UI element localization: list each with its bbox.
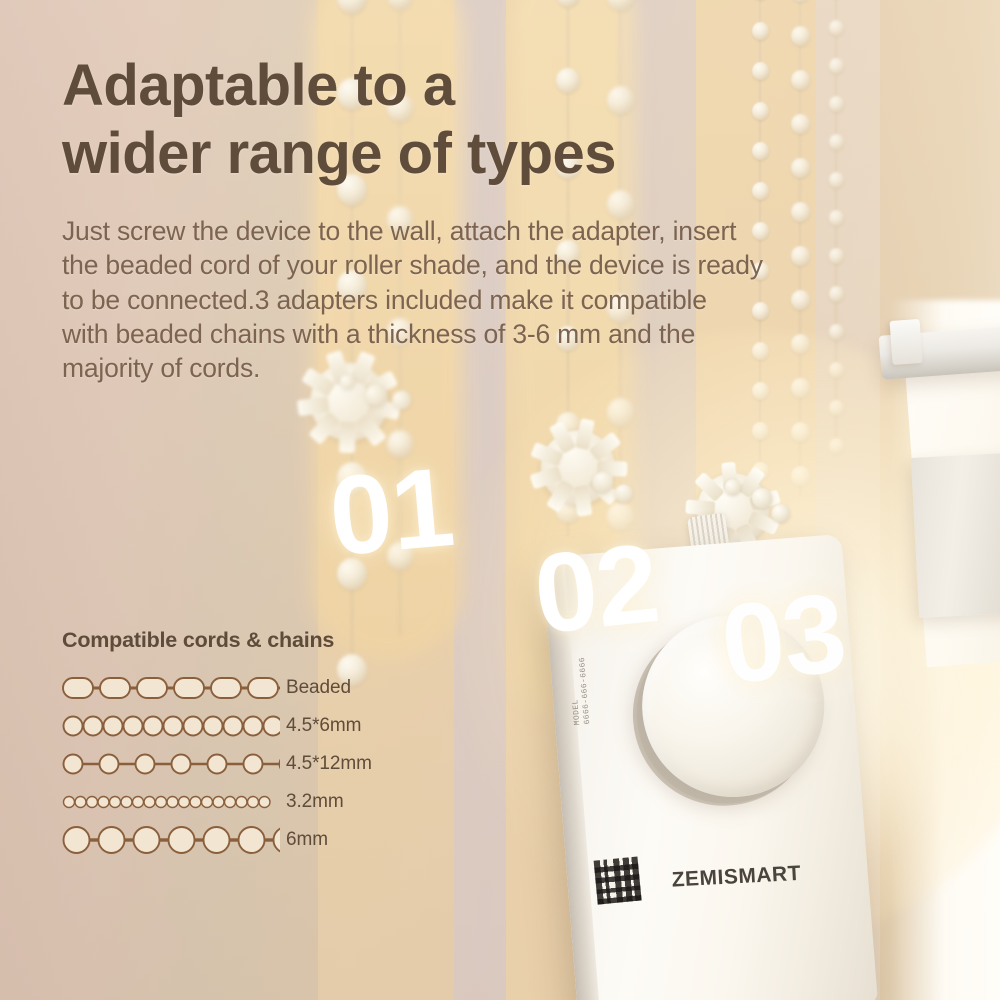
chain-sample-circle-tiny [62,787,280,817]
chain-bead [337,0,367,14]
legend-row: 4.5*12mm [62,745,402,783]
legend-row: 4.5*6mm [62,707,402,745]
legend-title: Compatible cords & chains [62,628,402,653]
chain-glyph-oval-link [62,673,280,703]
chain-bead [556,0,580,7]
adapter-bead [613,483,634,504]
gear-tooth [356,413,387,447]
gear-tooth [685,499,715,515]
page-title: Adaptable to a wider range of types [62,52,922,188]
chain-bead [387,0,413,10]
wall-panel [911,452,1000,618]
description-paragraph: Just screw the device to the wall, attac… [62,214,922,386]
chain-bead [752,22,769,40]
gear-tooth [694,471,725,501]
legend-row: Beaded [62,669,402,707]
qr-code-icon [594,857,642,905]
chain-glyph-circle-bar [62,825,280,855]
legend-label: 4.5*12mm [280,753,372,775]
chain-glyph-circle-tiny [62,787,280,817]
legend-label: 3.2mm [280,791,344,813]
chain-sample-oval-link [62,673,280,703]
legend-row: 6mm [62,821,402,859]
chain-bead [607,0,634,11]
chain-sample-circle-bar [62,749,280,779]
legend-label: 6mm [280,829,328,851]
chain-glyph-circle-tight [62,711,280,741]
chain-glyph-circle-bar [62,749,280,779]
gear-tooth [340,422,357,454]
chain-bead [791,0,810,2]
chain-bead [791,26,810,46]
legend-row-list: Beaded4.5*6mm4.5*12mm3.2mm6mm [62,669,402,859]
compatible-cords-legend: Compatible cords & chains Beaded4.5*6mm4… [62,628,402,859]
gear-tooth [297,397,330,417]
legend-label: 4.5*6mm [280,715,361,737]
chain-bead [829,20,844,36]
step-numeral-01: 01 [325,451,457,573]
gear-tooth [589,432,621,462]
gear-tooth [573,485,592,516]
legend-row: 3.2mm [62,783,402,821]
gear-tooth [546,480,574,513]
chain-sample-circle-tight [62,711,280,741]
gear-hub [534,424,622,512]
chain-sample-circle-bar [62,825,280,855]
step-numeral-02: 02 [529,527,663,651]
copy-block: Adaptable to a wider range of types Just… [62,52,922,386]
legend-label: Beaded [280,677,351,699]
step-numeral-03: 03 [716,576,851,702]
